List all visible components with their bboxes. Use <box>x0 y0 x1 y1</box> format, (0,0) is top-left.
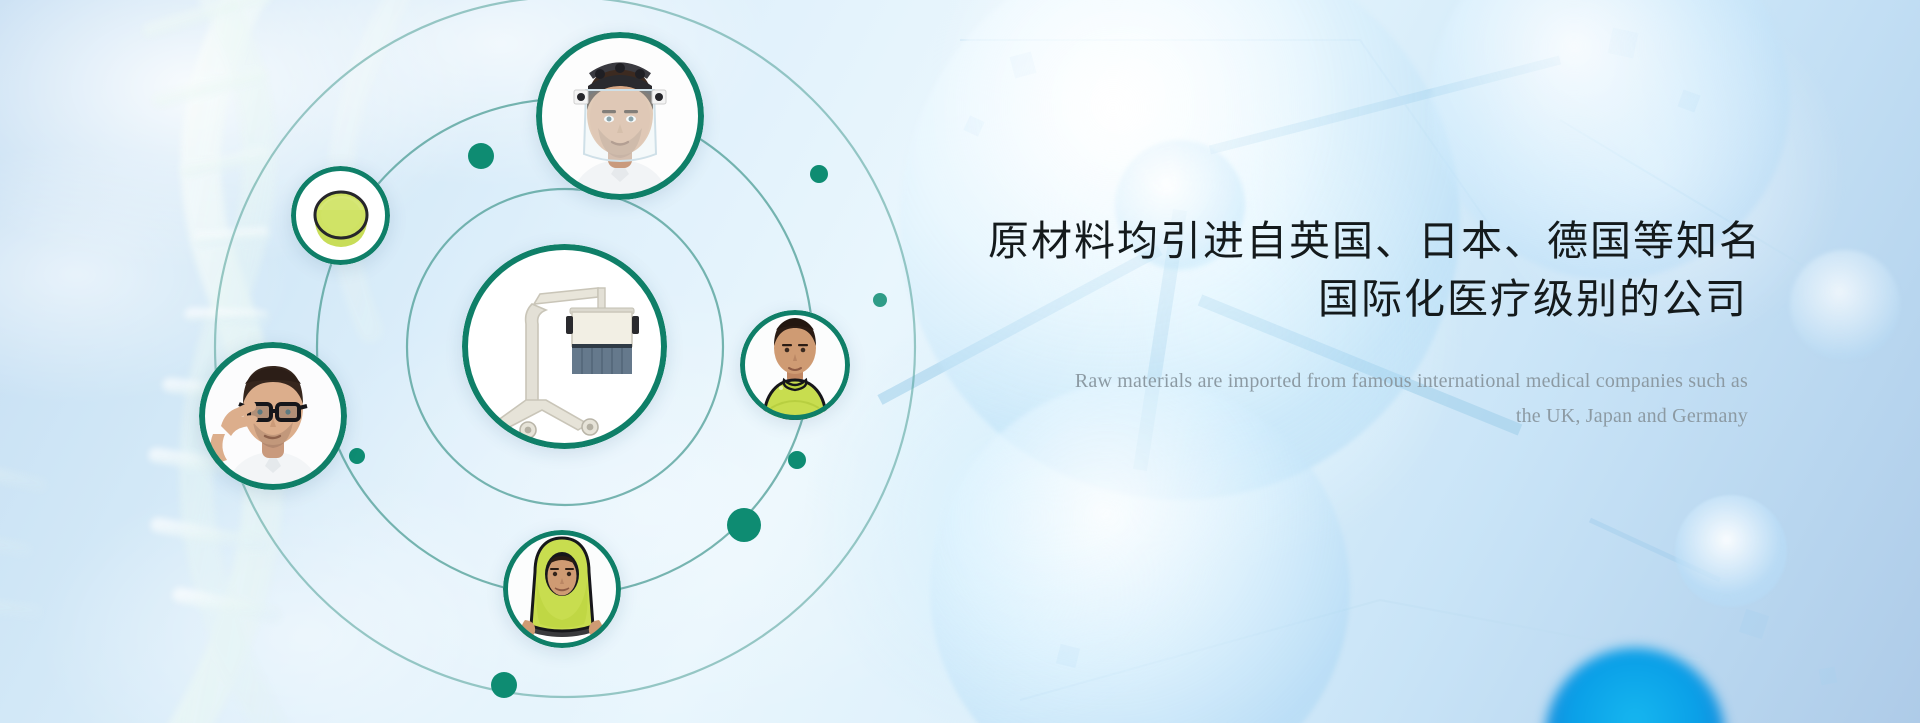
headline: 原材料均引进自英国、日本、德国等知名 国际化医疗级别的公司 <box>988 212 1748 328</box>
subtitle-line-2: the UK, Japan and Germany <box>988 399 1748 433</box>
subtitle-line-1: Raw materials are imported from famous i… <box>988 364 1748 398</box>
lead-glasses-photo <box>199 342 347 490</box>
bubble-protective-hood[interactable] <box>503 530 621 648</box>
headline-line-2: 国际化医疗级别的公司 <box>988 270 1748 328</box>
hero-banner: 原材料均引进自英国、日本、德国等知名 国际化医疗级别的公司 Raw materi… <box>0 0 1920 723</box>
mobile-xray-screen-photo <box>462 244 667 449</box>
bubble-face-shield[interactable] <box>536 32 704 200</box>
node-dot-1 <box>468 143 494 169</box>
bubble-mobile-xray-screen[interactable] <box>462 244 667 449</box>
node-dot-2 <box>810 165 828 183</box>
bubble-lead-glasses[interactable] <box>199 342 347 490</box>
bubble-lead-cap[interactable] <box>291 166 390 265</box>
molecule-sphere-small <box>1675 495 1787 607</box>
node-dot-3 <box>349 448 365 464</box>
node-dot-6 <box>491 672 517 698</box>
thyroid-collar-photo <box>740 310 850 420</box>
banner-text-block: 原材料均引进自英国、日本、德国等知名 国际化医疗级别的公司 Raw materi… <box>988 212 1748 433</box>
protective-hood-photo <box>503 530 621 648</box>
lead-cap-photo <box>291 166 390 265</box>
subtitle: Raw materials are imported from famous i… <box>988 364 1748 433</box>
node-dot-5 <box>727 508 761 542</box>
node-dot-7 <box>873 293 887 307</box>
face-shield-photo <box>536 32 704 200</box>
headline-line-1: 原材料均引进自英国、日本、德国等知名 <box>988 218 1762 264</box>
node-dot-4 <box>788 451 806 469</box>
molecule-sphere-b <box>1790 250 1900 360</box>
bubble-thyroid-collar[interactable] <box>740 310 850 420</box>
